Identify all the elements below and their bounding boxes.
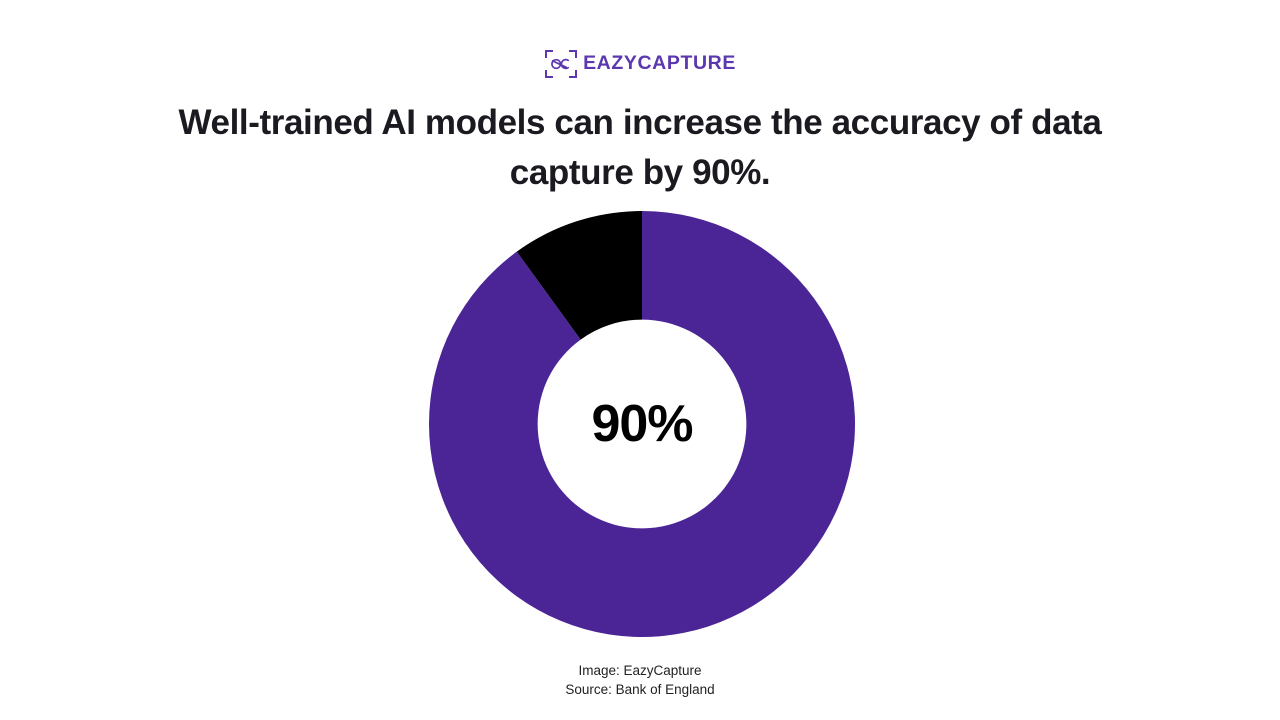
viewfinder-ec-icon xyxy=(544,49,578,79)
footer-credits: Image: EazyCapture Source: Bank of Engla… xyxy=(0,661,1280,700)
brand-lockup: EAZYCAPTURE xyxy=(544,48,736,80)
slide-canvas: EAZYCAPTURE Well-trained AI models can i… xyxy=(0,0,1280,720)
page-title: Well-trained AI models can increase the … xyxy=(125,98,1155,197)
image-credit: Image: EazyCapture xyxy=(0,661,1280,681)
brand-wordmark: EAZYCAPTURE xyxy=(583,54,736,74)
source-credit: Source: Bank of England xyxy=(0,680,1280,700)
donut-chart: 90% xyxy=(426,208,858,640)
